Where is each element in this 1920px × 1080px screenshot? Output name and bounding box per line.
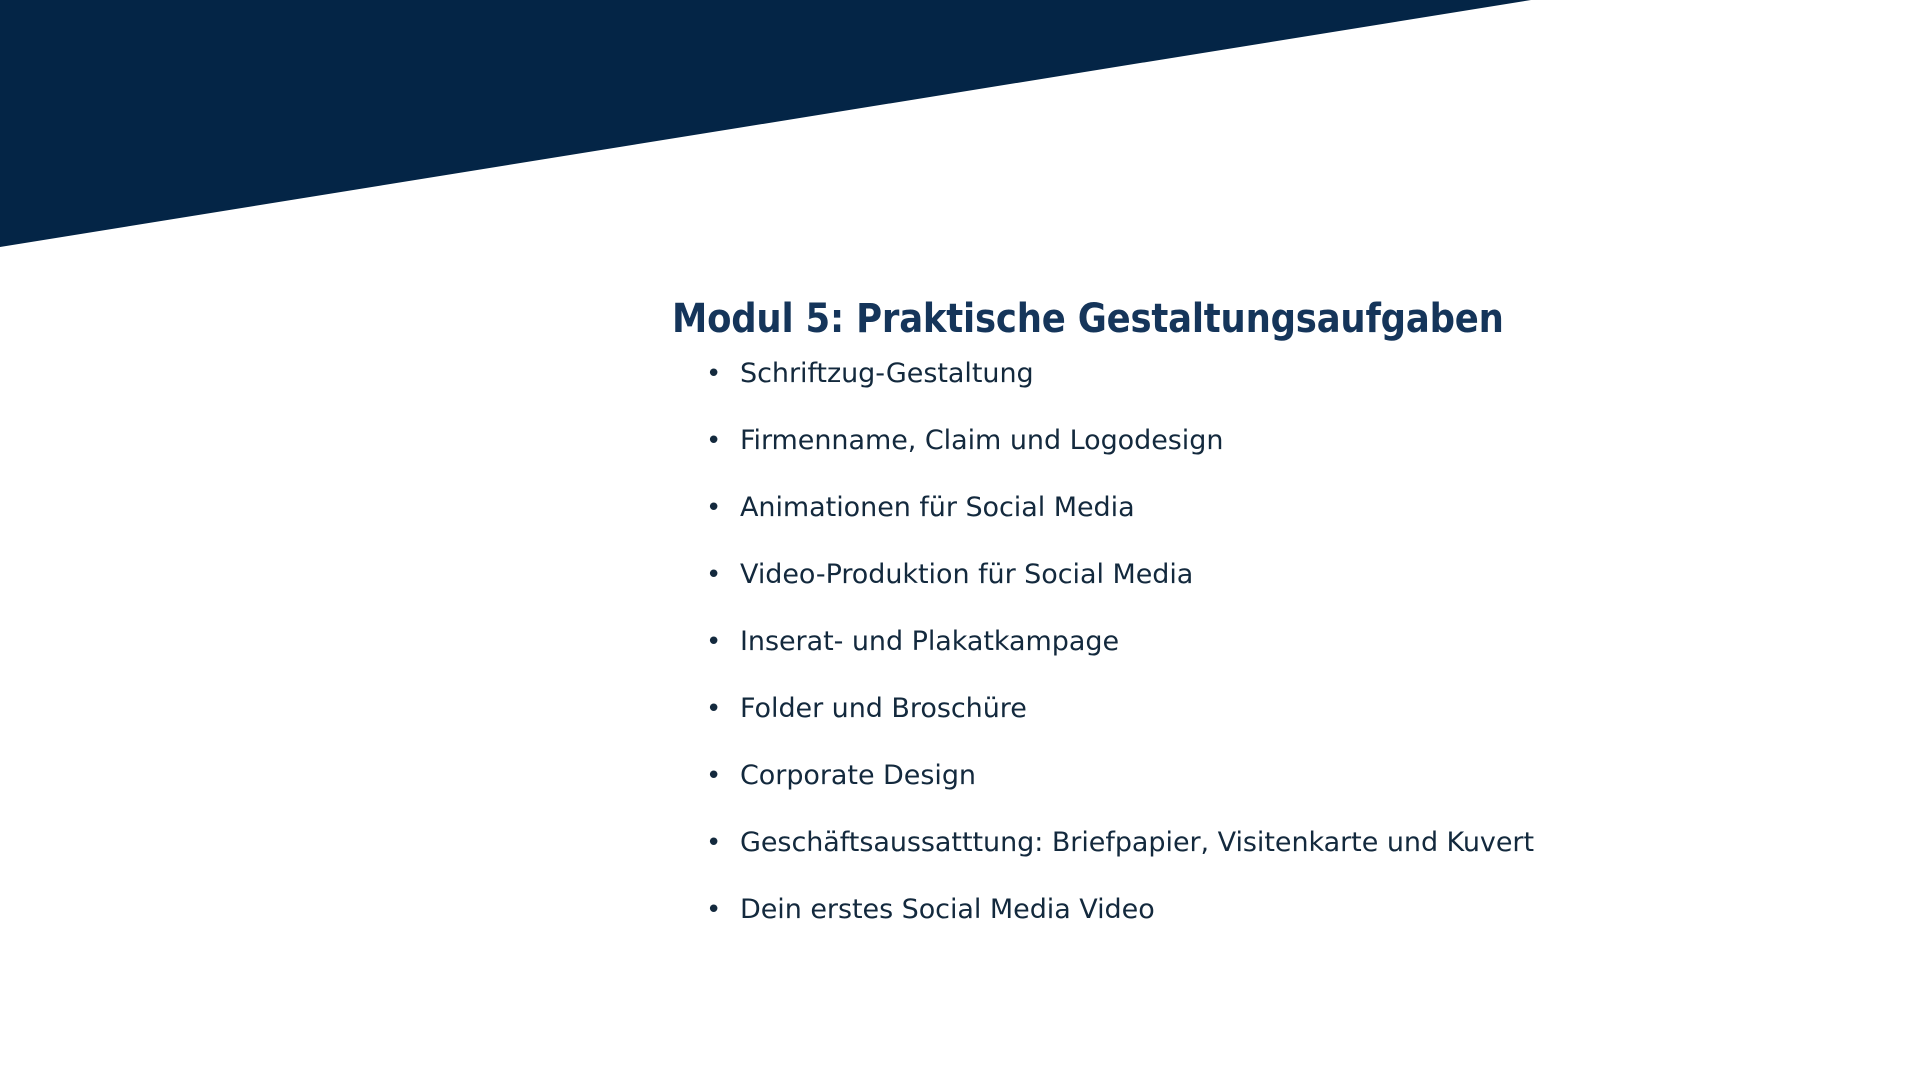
slide-title: Modul 5: Praktische Gestaltungsaufgaben [672,296,1832,342]
bullet-point-icon: • [670,361,740,387]
bullet-point-icon: • [670,763,740,789]
list-item-label: Inserat- und Plakatkampage [740,628,1850,655]
bullet-point-icon: • [670,629,740,655]
presentation-slide: Modul 5: Praktische Gestaltungsaufgaben … [0,0,1920,1080]
list-item-label: Firmenname, Claim und Logodesign [740,427,1850,454]
bullet-point-icon: • [670,428,740,454]
list-item: •Animationen für Social Media [670,494,1850,561]
list-item: •Video-Produktion für Social Media [670,561,1850,628]
bullet-point-icon: • [670,696,740,722]
bullet-point-icon: • [670,897,740,923]
list-item: •Geschäftsaussatttung: Briefpapier, Visi… [670,829,1850,896]
list-item: •Inserat- und Plakatkampage [670,628,1850,695]
bullet-point-icon: • [670,495,740,521]
list-item-label: Geschäftsaussatttung: Briefpapier, Visit… [740,829,1850,856]
bullet-point-icon: • [670,562,740,588]
list-item-label: Schriftzug-Gestaltung [740,360,1850,387]
list-item: •Folder und Broschüre [670,695,1850,762]
list-item: •Dein erstes Social Media Video [670,896,1850,963]
list-item: •Corporate Design [670,762,1850,829]
slide-content: Modul 5: Praktische Gestaltungsaufgaben … [670,296,1850,963]
list-item-label: Dein erstes Social Media Video [740,896,1850,923]
list-item-label: Animationen für Social Media [740,494,1850,521]
bullet-list: •Schriftzug-Gestaltung•Firmenname, Claim… [670,360,1850,963]
list-item-label: Folder und Broschüre [740,695,1850,722]
navy-diagonal-banner [0,0,1920,260]
list-item-label: Corporate Design [740,762,1850,789]
bullet-point-icon: • [670,830,740,856]
list-item-label: Video-Produktion für Social Media [740,561,1850,588]
list-item: •Firmenname, Claim und Logodesign [670,427,1850,494]
list-item: •Schriftzug-Gestaltung [670,360,1850,427]
